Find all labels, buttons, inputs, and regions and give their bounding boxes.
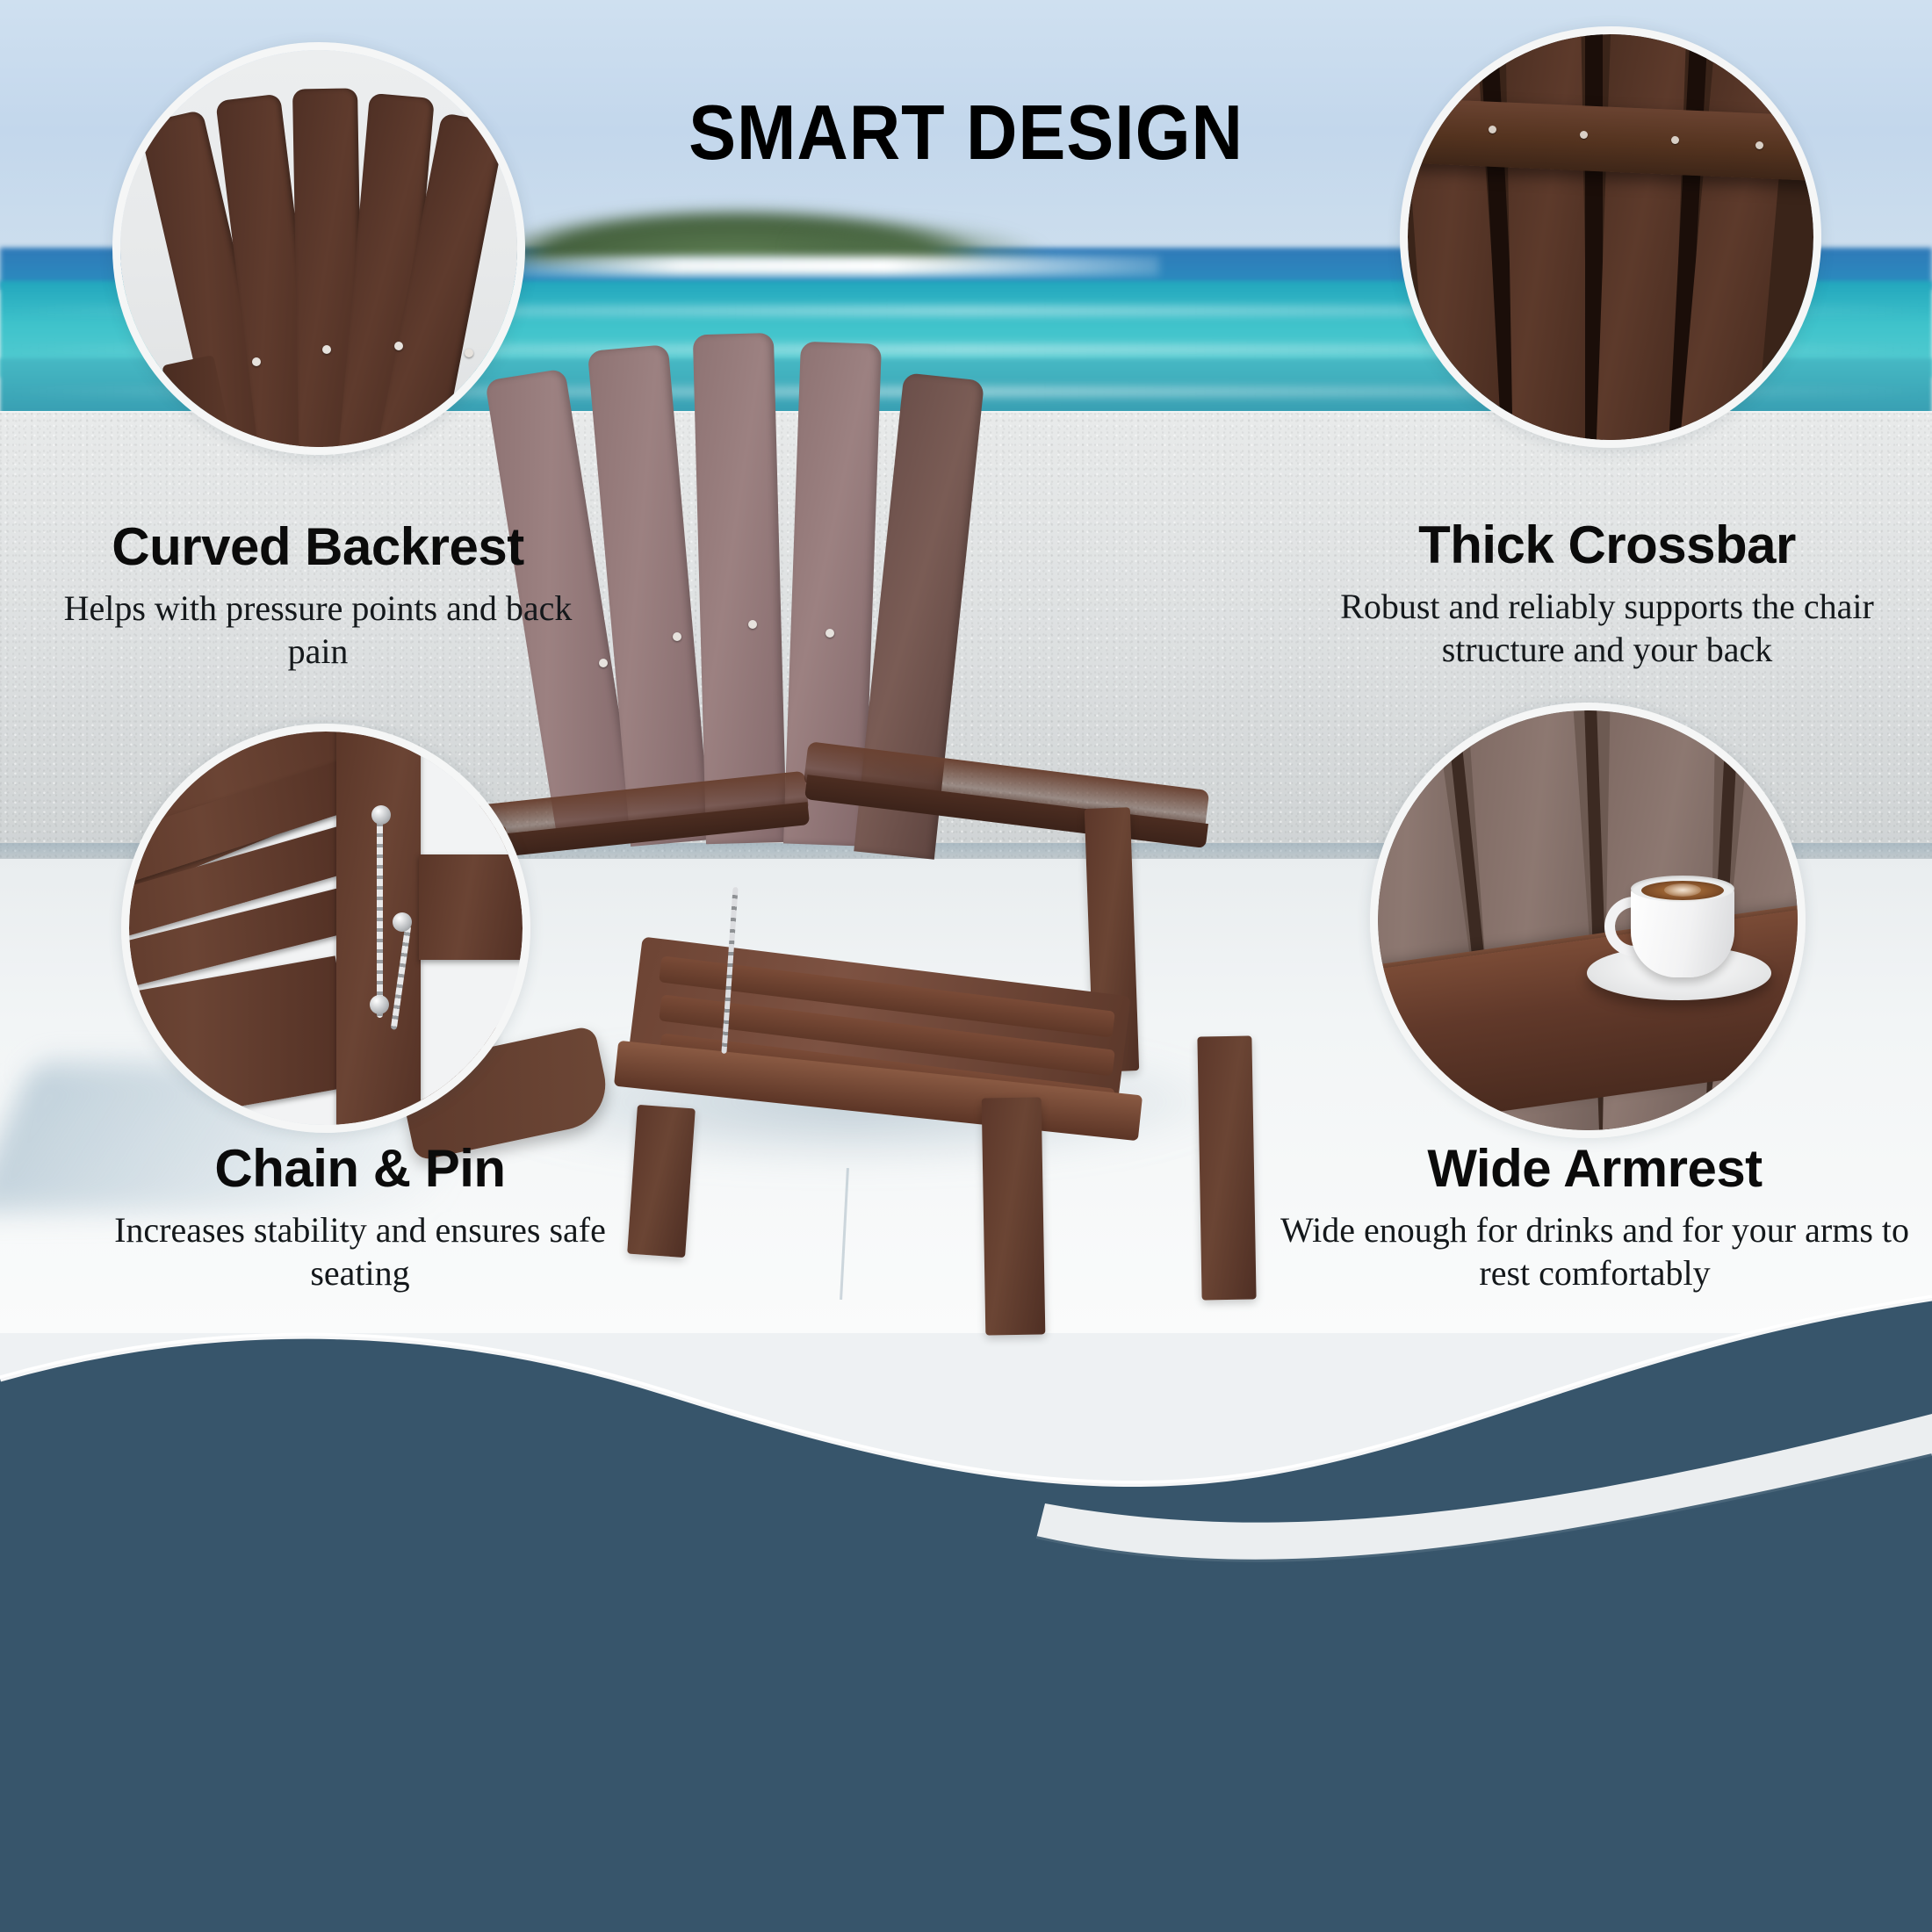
inset-chain-pin <box>121 724 530 1133</box>
rivet <box>825 629 834 638</box>
inset-image-crossbar <box>1408 34 1813 440</box>
rivet <box>1580 131 1588 139</box>
rivet <box>252 357 261 366</box>
pin-head <box>371 805 391 825</box>
rivet <box>599 659 608 667</box>
rivet <box>465 349 473 357</box>
backrest-slat <box>693 333 787 844</box>
rivet <box>673 632 681 641</box>
latte-art <box>1664 883 1701 897</box>
pin-head <box>393 912 412 932</box>
rivet <box>748 620 757 629</box>
feature-thick-crossbar: Thick Crossbar Robust and reliably suppo… <box>1300 515 1914 672</box>
back-slat <box>1505 34 1590 440</box>
feature-chain-pin: Chain & Pin Increases stability and ensu… <box>84 1138 636 1295</box>
pin-head <box>370 995 389 1014</box>
chain <box>377 816 383 1018</box>
leg-front-left <box>627 1105 696 1258</box>
feature-title: Wide Armrest <box>1265 1138 1925 1199</box>
banner-wave-shape <box>0 1273 1932 1932</box>
inset-image-armrest <box>1378 710 1798 1130</box>
feature-description: Robust and reliably supports the chair s… <box>1300 586 1914 672</box>
inset-thick-crossbar <box>1400 26 1821 448</box>
surf-line <box>474 256 1159 276</box>
adirondack-chair-main <box>527 369 1335 1273</box>
infographic-canvas: SMART DESIGN <box>0 0 1932 1932</box>
rivet <box>1755 141 1763 149</box>
inset-wide-armrest <box>1370 703 1806 1138</box>
inset-image-backrest <box>120 50 517 447</box>
rivet <box>394 342 403 350</box>
feature-title: Thick Crossbar <box>1300 515 1914 575</box>
inset-curved-backrest <box>112 42 525 455</box>
folding-steps-banner: Easy Folding Remove Pin Simply remove th… <box>0 1273 1932 1932</box>
rivet <box>1489 126 1496 133</box>
rivet <box>322 345 331 354</box>
feature-description: Helps with pressure points and back pain <box>40 588 595 674</box>
leg-rear-right <box>1197 1035 1256 1300</box>
bracket <box>419 854 523 960</box>
feature-title: Chain & Pin <box>84 1138 636 1199</box>
feature-curved-backrest: Curved Backrest Helps with pressure poin… <box>40 516 595 674</box>
island-far <box>790 220 1054 262</box>
rivet <box>1671 136 1679 144</box>
feature-title: Curved Backrest <box>40 516 595 577</box>
inset-image-chain-pin <box>129 732 523 1125</box>
feature-wide-armrest: Wide Armrest Wide enough for drinks and … <box>1265 1138 1925 1295</box>
